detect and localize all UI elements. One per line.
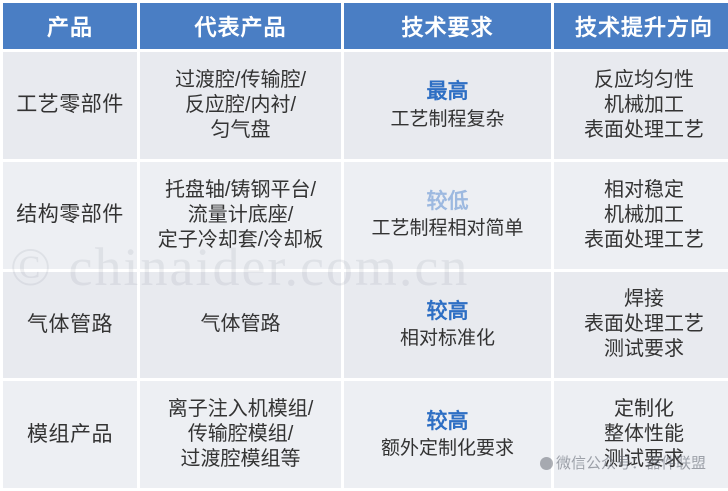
table-row: 模组产品 离子注入机模组/ 传输腔模组/ 过渡腔模组等 较高 额外定制化要求 定… [3, 381, 728, 488]
example-line: 托盘轴/铸钢平台/ [144, 178, 337, 203]
direction-line: 表面处理工艺 [558, 118, 728, 143]
cell-examples: 离子注入机模组/ 传输腔模组/ 过渡腔模组等 [140, 381, 341, 488]
direction-line: 焊接 [558, 287, 728, 312]
column-header-tech-req: 技术要求 [344, 3, 551, 49]
product-spec-table: 产品 代表产品 技术要求 技术提升方向 工艺零部件 过渡腔/传输腔/ 反应腔/内… [0, 0, 728, 491]
cell-tech-direction: 相对稳定 机械加工 表面处理工艺 [554, 162, 728, 269]
direction-line: 测试要求 [558, 337, 728, 362]
cell-tech-requirement: 较低 工艺制程相对简单 [344, 162, 551, 269]
tech-level-badge: 最高 [348, 79, 547, 105]
tech-detail: 额外定制化要求 [381, 438, 514, 459]
table-header-row: 产品 代表产品 技术要求 技术提升方向 [3, 3, 728, 49]
cell-examples: 气体管路 [140, 272, 341, 379]
example-line: 离子注入机模组/ [144, 397, 337, 422]
example-line: 气体管路 [144, 312, 337, 337]
column-header-product: 产品 [3, 3, 137, 49]
table-header: 产品 代表产品 技术要求 技术提升方向 [3, 3, 728, 49]
tech-level-badge: 较高 [348, 299, 547, 325]
example-line: 传输腔模组/ [144, 422, 337, 447]
example-line: 过渡腔模组等 [144, 447, 337, 472]
table-body: 工艺零部件 过渡腔/传输腔/ 反应腔/内衬/ 匀气盘 最高 工艺制程复杂 反应均… [3, 52, 728, 488]
cell-tech-requirement: 较高 额外定制化要求 [344, 381, 551, 488]
cell-product: 工艺零部件 [3, 52, 137, 159]
cell-tech-requirement: 较高 相对标准化 [344, 272, 551, 379]
spec-table-container: 产品 代表产品 技术要求 技术提升方向 工艺零部件 过渡腔/传输腔/ 反应腔/内… [0, 0, 728, 491]
column-header-direction: 技术提升方向 [554, 3, 728, 49]
direction-line: 反应均匀性 [558, 68, 728, 93]
table-row: 工艺零部件 过渡腔/传输腔/ 反应腔/内衬/ 匀气盘 最高 工艺制程复杂 反应均… [3, 52, 728, 159]
direction-line: 整体性能 [558, 422, 728, 447]
example-line: 反应腔/内衬/ [144, 93, 337, 118]
tech-detail: 工艺制程复杂 [390, 109, 504, 130]
tech-detail: 工艺制程相对简单 [371, 218, 523, 239]
example-line: 定子冷却套/冷却板 [144, 228, 337, 253]
cell-tech-requirement: 最高 工艺制程复杂 [344, 52, 551, 159]
tech-level-badge: 较高 [348, 409, 547, 435]
direction-line: 相对稳定 [558, 178, 728, 203]
cell-product: 气体管路 [3, 272, 137, 379]
table-row: 结构零部件 托盘轴/铸钢平台/ 流量计底座/ 定子冷却套/冷却板 较低 工艺制程… [3, 162, 728, 269]
cell-product: 模组产品 [3, 381, 137, 488]
tech-detail: 相对标准化 [400, 328, 495, 349]
direction-line: 机械加工 [558, 203, 728, 228]
example-line: 匀气盘 [144, 118, 337, 143]
cell-tech-direction: 焊接 表面处理工艺 测试要求 [554, 272, 728, 379]
direction-line: 定制化 [558, 397, 728, 422]
direction-line: 机械加工 [558, 93, 728, 118]
direction-line: 表面处理工艺 [558, 312, 728, 337]
direction-line: 表面处理工艺 [558, 228, 728, 253]
example-line: 过渡腔/传输腔/ [144, 68, 337, 93]
cell-examples: 托盘轴/铸钢平台/ 流量计底座/ 定子冷却套/冷却板 [140, 162, 341, 269]
column-header-examples: 代表产品 [140, 3, 341, 49]
direction-line: 测试要求 [558, 447, 728, 472]
cell-tech-direction: 反应均匀性 机械加工 表面处理工艺 [554, 52, 728, 159]
cell-product: 结构零部件 [3, 162, 137, 269]
example-line: 流量计底座/ [144, 203, 337, 228]
tech-level-badge: 较低 [348, 189, 547, 215]
cell-examples: 过渡腔/传输腔/ 反应腔/内衬/ 匀气盘 [140, 52, 341, 159]
table-row: 气体管路 气体管路 较高 相对标准化 焊接 表面处理工艺 测试要求 [3, 272, 728, 379]
cell-tech-direction: 定制化 整体性能 测试要求 [554, 381, 728, 488]
